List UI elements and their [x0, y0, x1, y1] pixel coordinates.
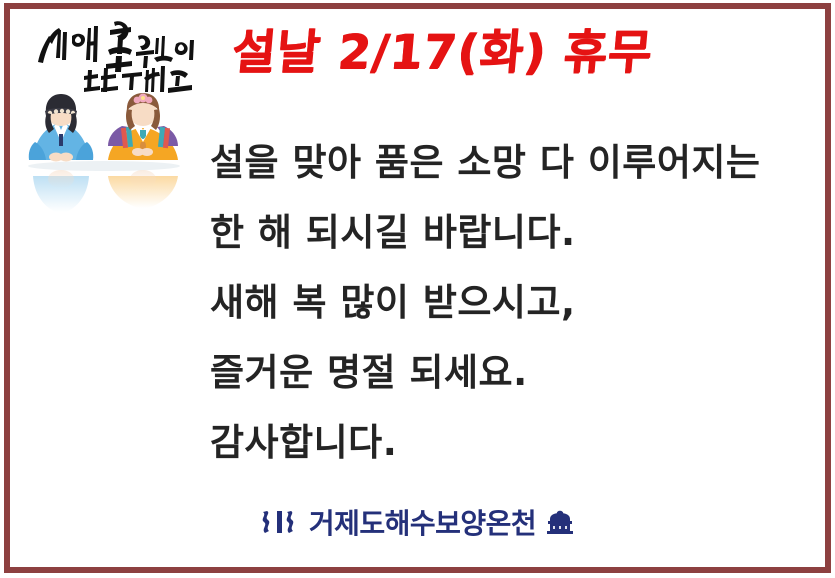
- message-line: 한 해 되시길 바랍니다.: [210, 198, 825, 268]
- new-year-illustration: [18, 14, 208, 229]
- two-children-bowing-icon: [26, 80, 201, 230]
- message-line: 새해 복 많이 받으시고,: [210, 268, 825, 338]
- hot-spring-icon: [260, 507, 300, 537]
- page-title: 설날 2/17(화) 휴무: [229, 23, 814, 83]
- brand-name: 거제도해수보양온천: [309, 502, 536, 542]
- message-line: 설을 맞아 품은 소망 다 이루어지는: [210, 128, 825, 198]
- message-body: 설을 맞아 품은 소망 다 이루어지는 한 해 되시길 바랍니다. 새해 복 많…: [210, 128, 825, 478]
- crest-emblem-icon: [545, 507, 575, 537]
- brand-footer: 거제도해수보양온천: [0, 498, 835, 546]
- mirror-reflection-icon: [28, 161, 180, 212]
- girl-bowing-icon: [108, 93, 178, 160]
- boy-bowing-icon: [29, 94, 94, 162]
- holiday-notice-poster: 설날 2/17(화) 휴무 설을 맞아 품은 소망 다 이루어지는 한 해 되시…: [0, 0, 835, 578]
- message-line: 감사합니다.: [210, 408, 825, 478]
- message-line: 즐거운 명절 되세요.: [210, 338, 825, 408]
